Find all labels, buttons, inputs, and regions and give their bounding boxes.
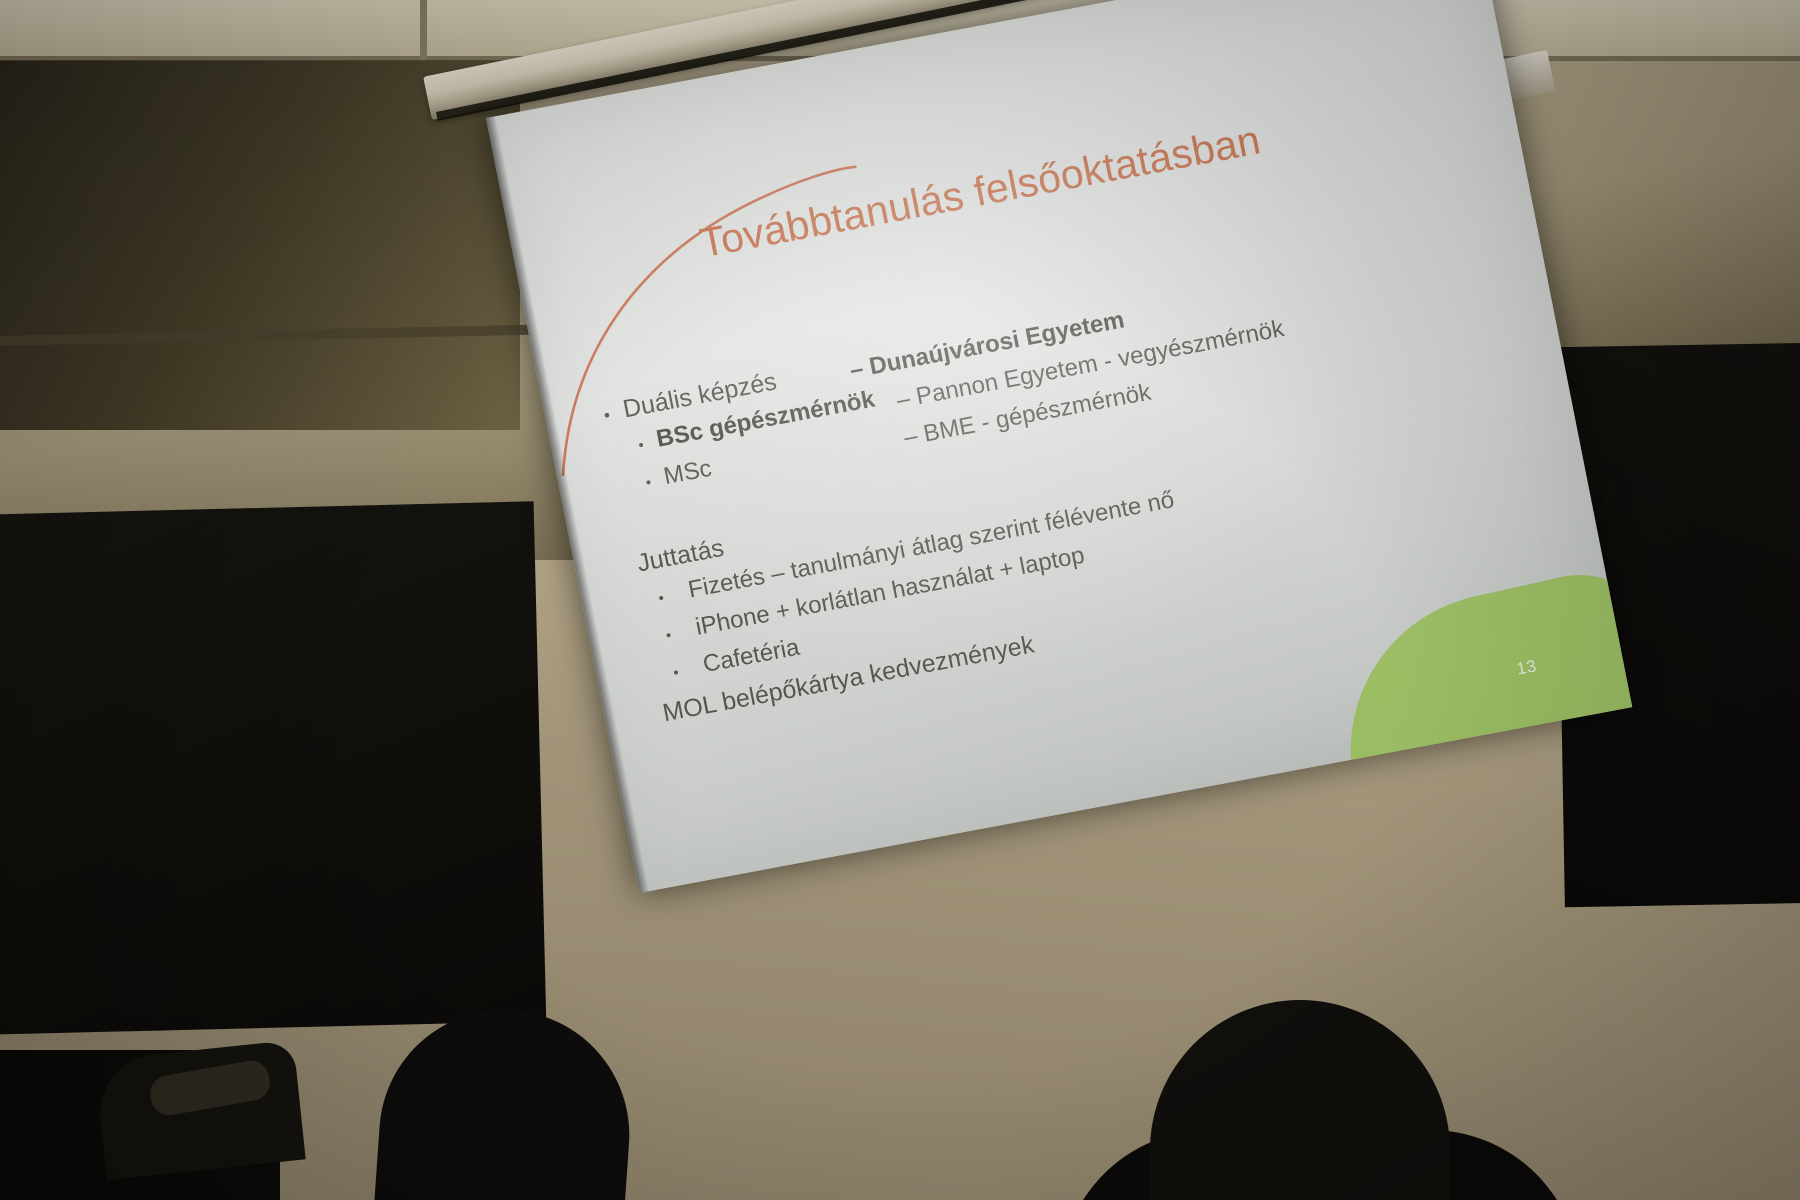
bullet-cafeteria: Cafetéria xyxy=(671,636,802,683)
slide-page-number: 13 xyxy=(1515,656,1538,679)
ceiling-bracket-left xyxy=(420,0,427,60)
bullet-msc: MSc xyxy=(643,457,714,493)
lecture-room-photo: reflecta 13 Továbbtanulás felsőoktatásba… xyxy=(0,0,1800,1200)
upper-wall-shadow xyxy=(0,0,520,430)
footer-mol-belepokartya: MOL belépőkártya kedvezmények xyxy=(660,630,1036,728)
blackboard-left xyxy=(0,501,546,1035)
